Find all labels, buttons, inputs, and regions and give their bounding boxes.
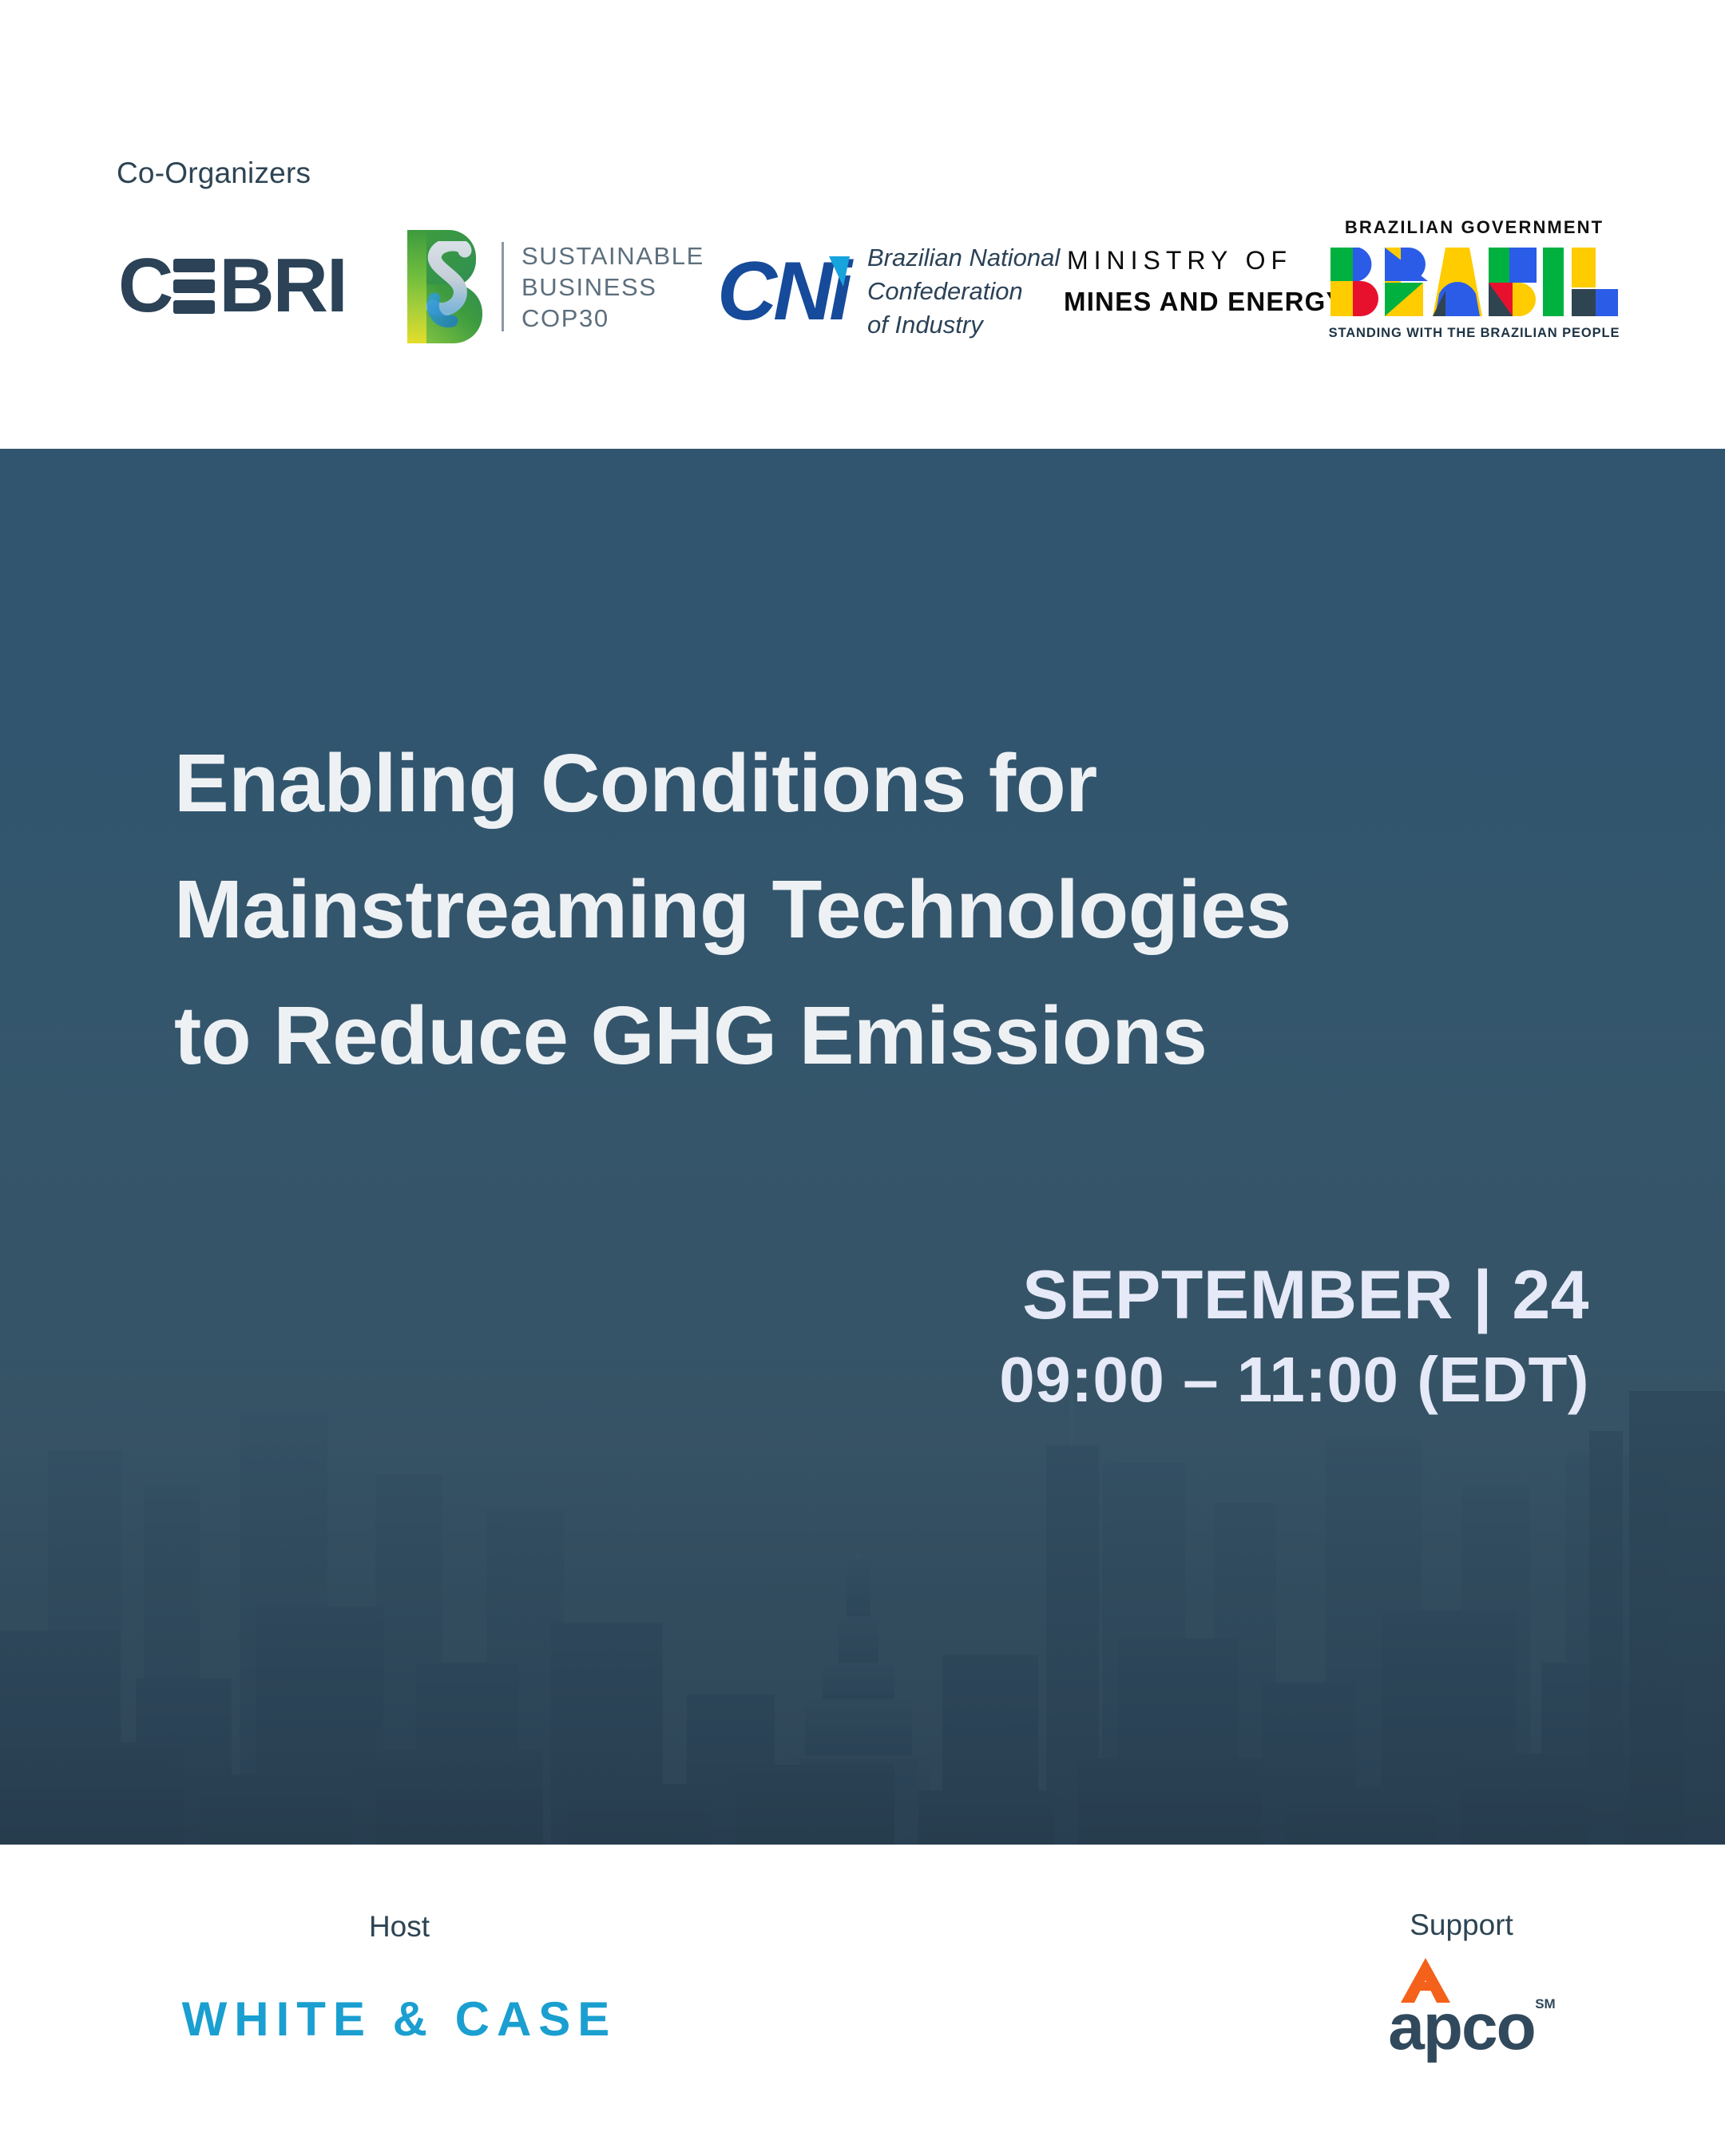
cni-text: Brazilian National Confederation of Indu… xyxy=(867,241,1060,342)
sustainable-business-mark-icon xyxy=(407,230,484,343)
co-organizers-label: Co-Organizers xyxy=(117,157,311,190)
cebri-e-bars-icon xyxy=(173,257,215,315)
host-label: Host xyxy=(0,1910,799,1944)
brazilian-government-top-text: BRAZILIAN GOVERNMENT xyxy=(1326,217,1623,238)
apco-servicemark: SM xyxy=(1535,1996,1556,2012)
support-block: Support apco SM xyxy=(1254,1908,1669,2062)
hero-section: Enabling Conditions for Mainstreaming Te… xyxy=(0,449,1725,1845)
apco-logo[interactable]: apco SM xyxy=(1388,1993,1534,2062)
co-organizer-logo-row: C BRI xyxy=(0,206,1725,374)
hero-overlay-scrim xyxy=(0,449,1725,1845)
brasil-wordmark-icon xyxy=(1326,246,1623,319)
cebri-letters-bri: BRI xyxy=(219,252,346,319)
cebri-logo[interactable]: C BRI xyxy=(118,252,347,319)
sustainable-business-divider xyxy=(502,242,504,331)
event-datetime: SEPTEMBER | 24 09:00 – 11:00 (EDT) xyxy=(999,1255,1589,1418)
cni-mark-icon: CNi xyxy=(717,248,851,335)
support-label: Support xyxy=(1254,1908,1669,1942)
title-line-3: to Reduce GHG Emissions xyxy=(174,973,1580,1099)
apco-a-mark-icon xyxy=(1401,1958,1450,2003)
cni-logo[interactable]: CNi Brazilian National Confederation of … xyxy=(717,241,1060,342)
cebri-letter-c: C xyxy=(118,252,172,319)
ministry-line-2: MINES AND ENERGY xyxy=(1064,287,1295,317)
title-line-2: Mainstreaming Technologies xyxy=(174,846,1580,973)
cni-line-2: Confederation xyxy=(867,277,1023,305)
title-line-1: Enabling Conditions for xyxy=(174,720,1580,846)
header-bar: Co-Organizers C BRI xyxy=(0,0,1725,449)
footer-bar: Host WHITE & CASE Support apco SM xyxy=(0,1845,1725,2156)
event-time: 09:00 – 11:00 (EDT) xyxy=(999,1342,1589,1418)
white-and-case-logo[interactable]: WHITE & CASE xyxy=(0,1992,799,2047)
event-date: SEPTEMBER | 24 xyxy=(999,1255,1589,1335)
host-block: Host WHITE & CASE xyxy=(0,1910,799,2047)
sbc-line-3: COP30 xyxy=(521,304,609,332)
sustainable-business-cop30-logo[interactable]: SUSTAINABLE BUSINESS COP30 xyxy=(407,230,704,343)
ministry-line-1: MINISTRY OF xyxy=(1064,246,1295,275)
sbc-line-2: BUSINESS xyxy=(521,273,657,301)
brazilian-government-bottom-text: STANDING WITH THE BRAZILIAN PEOPLE xyxy=(1326,326,1623,341)
sbc-line-1: SUSTAINABLE xyxy=(521,242,704,270)
sustainable-business-text: SUSTAINABLE BUSINESS COP30 xyxy=(521,240,704,334)
brazilian-government-logo[interactable]: BRAZILIAN GOVERNMENT xyxy=(1326,217,1623,341)
page-title: Enabling Conditions for Mainstreaming Te… xyxy=(174,720,1580,1099)
cni-line-1: Brazilian National xyxy=(867,244,1060,271)
cni-line-3: of Industry xyxy=(867,311,983,339)
cebri-wordmark: C BRI xyxy=(118,252,347,319)
ministry-of-mines-and-energy-logo[interactable]: MINISTRY OF MINES AND ENERGY xyxy=(1064,246,1295,317)
